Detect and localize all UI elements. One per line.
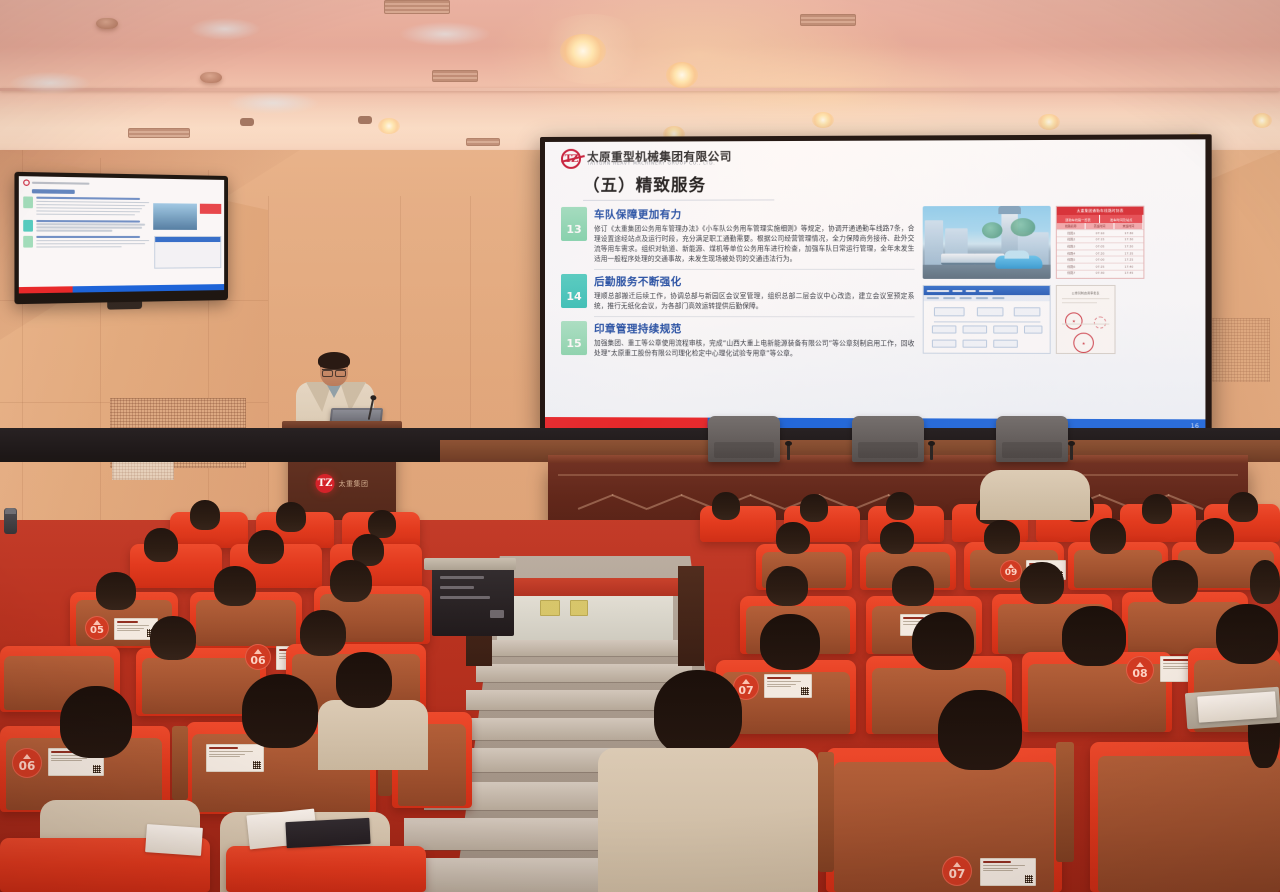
red-seal-icon: ★ (1065, 312, 1082, 329)
downlight-icon (1252, 113, 1272, 128)
dais-microphone-icon[interactable] (1070, 444, 1073, 460)
audience-head (800, 494, 828, 522)
aisle-step (476, 664, 692, 682)
schedule-title: 太重集团通勤车线路时刻表 (1057, 207, 1144, 215)
audience-head (1062, 606, 1126, 666)
slide-body: 13 车队保障更加有力 修订《太重集团公务用车管理办法》《小车队公务用车管理实施… (555, 206, 1195, 365)
audience-head (938, 690, 1022, 770)
armrest (818, 752, 834, 872)
audience-head (144, 528, 178, 562)
ceiling-seam-upper (0, 88, 1280, 91)
audience-head (1020, 562, 1064, 604)
side-monitor-title-bar (32, 189, 75, 194)
seat-number-text: 06 (19, 760, 36, 772)
item-body-text: 加强集团、重工等公章使用流程审核，完成“山西大重上电新能源装备有限公司”等公章刻… (594, 338, 914, 359)
red-seal-icon (1094, 316, 1106, 328)
audience-head (1142, 494, 1172, 524)
notebook[interactable] (145, 824, 203, 856)
dais-microphone-icon[interactable] (930, 444, 933, 460)
audience-head (242, 674, 318, 748)
slide-text-column: 13 车队保障更加有力 修订《太重集团公务用车管理办法》《小车队公务用车管理实施… (561, 206, 915, 364)
hvac-vent (466, 138, 500, 146)
audience-head (1250, 560, 1280, 604)
eyeglasses-icon (322, 369, 346, 375)
seat-label-card (206, 744, 264, 772)
audience-head (1196, 518, 1234, 554)
seat-number-badge: 06 (12, 748, 42, 778)
wall-panel-seam (470, 196, 471, 436)
audience-head (654, 670, 742, 756)
side-monitor-photo (153, 203, 197, 230)
seal-document: 公章刻制启用审批表 ★ ★ (1056, 285, 1116, 354)
item-badge (23, 219, 33, 231)
audience-head (1152, 560, 1198, 604)
cell: 17:45 (1114, 270, 1143, 276)
audience-head (96, 572, 136, 610)
bus-schedule-table: 太重集团通勤车线路时刻表 通勤车线路一览表 发车时间及站点 线路名称 首班时间 … (1056, 206, 1145, 279)
downlight-icon (1038, 114, 1060, 130)
ceiling-panel-reflection (400, 22, 490, 46)
slide-item-14: 14 后勤服务不断强化 理顺总部搬迁后续工作，协调总部与新园区会议室管理，组织总… (561, 274, 915, 311)
audience-head (880, 522, 914, 554)
audience-head (766, 566, 808, 606)
ceiling-panel-reflection (190, 18, 260, 40)
dais-chair[interactable] (852, 416, 924, 462)
audience-shoulders (980, 470, 1090, 520)
acoustic-panel-perforated (1212, 318, 1270, 382)
seat-back-panel (1098, 756, 1280, 892)
audience-head (892, 566, 934, 606)
hvac-vent (800, 14, 856, 26)
podium-logo: TZ 太重集团 (316, 474, 369, 493)
audience-head (1216, 604, 1278, 664)
schedule-row: 线路7 07:30 17:45 (1057, 269, 1144, 276)
audience-head (60, 686, 132, 758)
slide-item-13: 13 车队保障更加有力 修订《太重集团公务用车管理办法》《小车队公务用车管理实施… (561, 206, 915, 264)
title-divider (583, 199, 774, 200)
downlight-icon (812, 112, 834, 128)
seat-back-panel (1074, 550, 1162, 588)
slide-item-15: 15 印章管理持续规范 加强集团、重工等公章使用流程审核，完成“山西大重上电新能… (561, 321, 915, 359)
red-seal-icon: ★ (1073, 333, 1094, 353)
seat-label-card (980, 858, 1036, 886)
hvac-vent (128, 128, 190, 138)
audience-head (190, 500, 220, 530)
aisle-step (486, 640, 682, 656)
aisle-side-wall (678, 566, 704, 666)
seat-number-text: 08 (1132, 668, 1147, 679)
smoke-detector-icon (200, 72, 222, 83)
step-sign (570, 600, 588, 616)
seat-number-badge: 06 (245, 644, 271, 670)
side-monitor-logo-row (23, 179, 220, 188)
audience-head (276, 502, 306, 532)
audience-head (336, 652, 392, 708)
audience-head (712, 492, 740, 520)
downlight-icon (560, 34, 606, 68)
dais-microphone-icon[interactable] (787, 444, 790, 460)
item-body-text: 修订《太重集团公务用车管理办法》《小车队公务用车管理实施细则》等规定，协调开通通… (594, 223, 914, 264)
seat-number-badge: 08 (1126, 656, 1154, 684)
seat-number-badge: 05 (85, 616, 109, 640)
seat-number-text: 07 (949, 868, 966, 880)
item-content: 印章管理持续规范 加强集团、重工等公章使用流程审核，完成“山西大重上电新能源装备… (594, 321, 914, 359)
system-titlebar (924, 286, 1050, 295)
schedule-header-row: 通勤车线路一览表 发车时间及站点 (1057, 215, 1144, 223)
system-flow-diagram (924, 301, 1050, 353)
media-row-top: 太重集团通勤车线路时刻表 通勤车线路一览表 发车时间及站点 线路名称 首班时间 … (923, 206, 1193, 279)
seat-number-text: 05 (90, 626, 104, 636)
tz-logo-text: TZ (565, 153, 578, 164)
item-heading: 车队保障更加有力 (594, 206, 914, 222)
audience-head (1090, 518, 1126, 554)
seat-back-panel (196, 600, 296, 646)
dais-groove (558, 474, 1238, 476)
audience-head (886, 492, 914, 520)
slide-logo-row: TZ 太原重型机械集团有限公司 TAIYUAN HEAVY MACHINERY … (561, 147, 1195, 169)
slide-media-column: 太重集团通勤车线路时刻表 通勤车线路一览表 发车时间及站点 线路名称 首班时间 … (923, 206, 1193, 365)
side-monitor-table (200, 204, 221, 214)
side-monitor-stand (107, 302, 142, 310)
document-title: 公章刻制启用审批表 (1057, 291, 1115, 295)
equipment-top-shelf (424, 558, 516, 570)
item-number-badge: 14 (561, 274, 587, 308)
company-name-en: TAIYUAN HEAVY MACHINERY GROUP CO., LTD. (587, 162, 732, 167)
side-monitor-slide (19, 176, 224, 293)
conference-hall-scene: TZ 太原重型机械集团有限公司 TAIYUAN HEAVY MACHINERY … (0, 0, 1280, 892)
side-monitor-footer (19, 284, 224, 293)
item-divider (594, 269, 914, 270)
side-monitor[interactable] (14, 172, 228, 304)
company-name-placeholder (32, 181, 90, 185)
thermos[interactable] (4, 508, 17, 534)
tz-logo-icon: TZ (316, 474, 335, 493)
seat-number-text: 07 (738, 685, 753, 696)
podium-brand-text: 太重集团 (339, 479, 369, 489)
dais-chair[interactable] (708, 416, 780, 462)
seat-label-card (764, 674, 812, 698)
commuter-bus-photo (923, 206, 1051, 279)
item-heading: 后勤服务不断强化 (594, 274, 914, 289)
audience-head (214, 566, 256, 606)
audience-head (776, 522, 810, 554)
audience-shoulders (318, 700, 428, 770)
presentation-slide: TZ 太原重型机械集团有限公司 TAIYUAN HEAVY MACHINERY … (545, 139, 1205, 433)
company-block: 太原重型机械集团有限公司 TAIYUAN HEAVY MACHINERY GRO… (587, 150, 732, 167)
seat-chevron-icon (1136, 662, 1144, 667)
seat-number-text: 09 (1005, 569, 1018, 578)
tz-logo-icon (23, 179, 30, 185)
aisle-step-red (492, 578, 680, 596)
hvac-vent (384, 0, 450, 14)
item-number-badge: 15 (561, 321, 587, 355)
item-content: 车队保障更加有力 修订《太重集团公务用车管理办法》《小车队公务用车管理实施细则》… (594, 206, 914, 264)
downlight-icon (378, 118, 400, 134)
projection-screen-surface: TZ 太原重型机械集团有限公司 TAIYUAN HEAVY MACHINERY … (545, 139, 1205, 433)
seat-number-badge: 09 (1000, 560, 1022, 582)
armrest (1056, 742, 1074, 862)
armrest (172, 726, 188, 800)
audience-head (1228, 492, 1258, 522)
ceiling-speaker-icon (358, 116, 372, 124)
speaker-hair (318, 352, 350, 369)
seat-chevron-icon (742, 679, 750, 684)
audience-shoulders (598, 748, 818, 892)
av-equipment-cabinet (432, 566, 514, 636)
downlight-icon (666, 62, 698, 88)
seat-number-badge: 07 (942, 856, 972, 886)
audience-head (300, 610, 346, 656)
audience-head (912, 612, 974, 670)
meeting-room-system-screenshot (923, 285, 1051, 354)
tz-logo-icon: TZ (561, 149, 581, 169)
seat[interactable] (226, 846, 426, 892)
cell: 线路7 (1057, 270, 1086, 276)
seat-number-text: 06 (250, 655, 265, 666)
ceiling-speaker-icon (240, 118, 254, 126)
projection-screen[interactable]: TZ 太原重型机械集团有限公司 TAIYUAN HEAVY MACHINERY … (540, 134, 1212, 440)
ceiling-panel-reflection (10, 72, 90, 94)
side-monitor-screen (19, 176, 224, 293)
item-heading: 印章管理持续规范 (594, 321, 914, 336)
item-badge (23, 196, 33, 208)
item-badge (23, 236, 33, 248)
wall-panel-seam (400, 196, 401, 436)
schedule-header-cell: 通勤车线路一览表 (1057, 215, 1100, 223)
side-monitor-system-shot (154, 236, 221, 269)
seat-chevron-icon (254, 649, 262, 654)
audience-head (984, 520, 1020, 554)
dais-chair[interactable] (996, 416, 1068, 462)
audience-head (760, 614, 820, 670)
item-body-text: 理顺总部搬迁后续工作，协调总部与新园区会议室管理，组织总部二层会议中心改造，建立… (594, 291, 914, 311)
step-sign (540, 600, 560, 616)
item-number-badge: 13 (561, 207, 587, 241)
schedule-header-cell: 发车时间及站点 (1100, 215, 1143, 223)
audience-head (330, 560, 372, 602)
notebook[interactable] (285, 818, 370, 848)
hvac-vent (432, 70, 478, 82)
item-divider (594, 316, 914, 317)
ceiling-panel-reflection (228, 92, 318, 114)
item-content: 后勤服务不断强化 理顺总部搬迁后续工作，协调总部与新园区会议室管理，组织总部二层… (594, 274, 914, 311)
audience-head (248, 530, 284, 564)
audience-head (150, 616, 196, 660)
smoke-detector-icon (96, 18, 118, 29)
media-row-bottom: 公章刻制启用审批表 ★ ★ (923, 285, 1193, 354)
notebook[interactable] (1197, 691, 1277, 722)
slide-title: （五）精致服务 (583, 170, 1195, 196)
cell: 07:30 (1086, 270, 1115, 276)
